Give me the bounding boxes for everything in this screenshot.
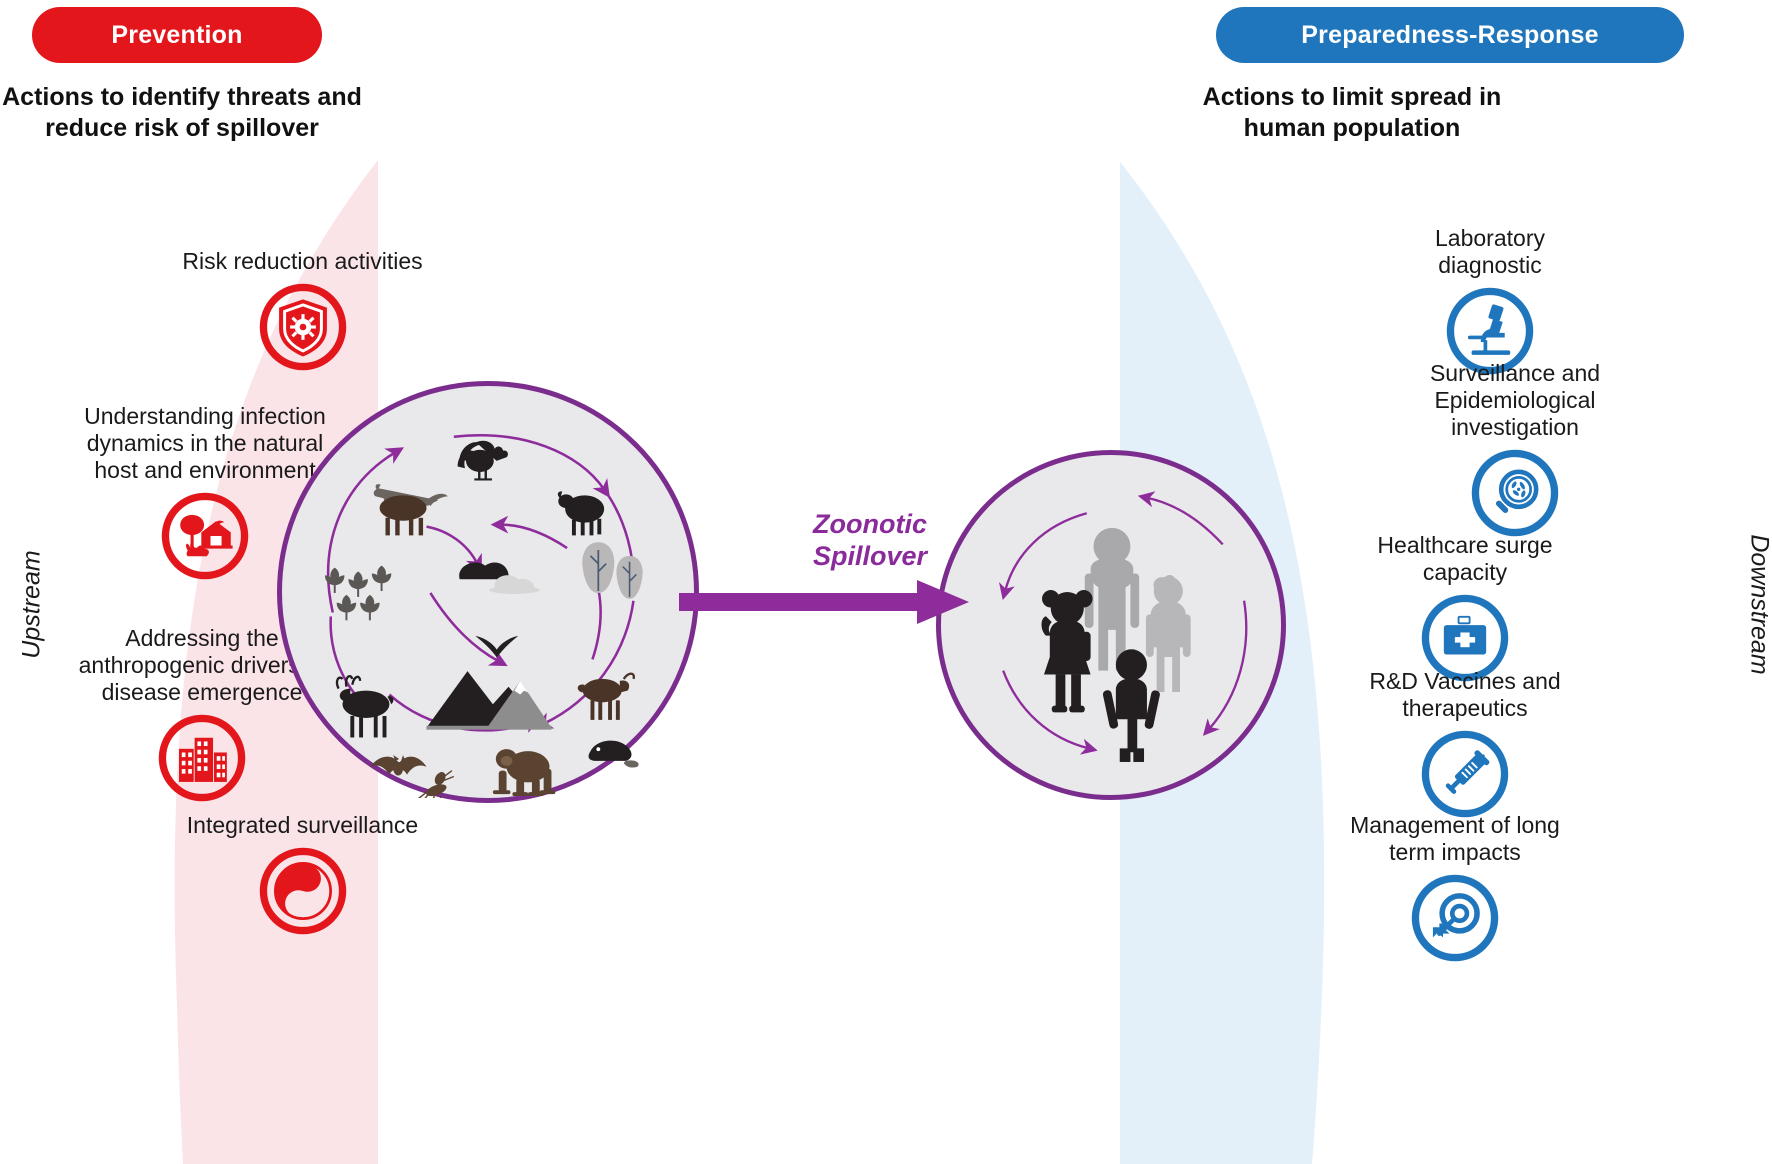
animal-environment-cycle-circle xyxy=(277,381,699,803)
prevention-badge: Prevention xyxy=(32,7,322,63)
preparedness-item-0-label: Laboratory diagnostic xyxy=(1385,225,1595,279)
prevention-badge-label: Prevention xyxy=(111,21,242,50)
preparedness-badge-label: Preparedness-Response xyxy=(1301,21,1598,50)
zoonotic-spillover-label: Zoonotic Spillover xyxy=(755,508,985,573)
mosquito-icon xyxy=(417,770,454,798)
spillover-arrow-icon xyxy=(679,580,969,624)
prevention-item-0-label: Risk reduction activities xyxy=(180,248,425,275)
adult-man-icon xyxy=(1085,528,1139,671)
shield-virus-icon xyxy=(180,281,425,373)
woman-icon xyxy=(1146,575,1191,692)
prevention-item-3-label: Integrated surveillance xyxy=(185,812,420,839)
trees-icon xyxy=(582,542,642,599)
mountains-icon xyxy=(426,671,551,730)
yin-yang-icon xyxy=(185,845,420,937)
prevention-item-risk-reduction: Risk reduction activities xyxy=(180,248,425,373)
clouds-icon xyxy=(459,563,540,594)
preparedness-item-2-label: Healthcare surge capacity xyxy=(1340,532,1590,586)
goat-icon xyxy=(578,674,634,720)
preparedness-item-surveillance-epi: Surveillance and Epidemiological investi… xyxy=(1385,360,1645,539)
preparedness-item-healthcare-surge: Healthcare surge capacity xyxy=(1340,532,1590,684)
prevention-item-integrated-surveillance: Integrated surveillance xyxy=(185,812,420,937)
prevention-subtitle: Actions to identify threats and reduce r… xyxy=(0,82,364,143)
preparedness-item-rd-vaccines: R&D Vaccines and therapeutics xyxy=(1340,668,1590,820)
child-icon xyxy=(1102,649,1160,762)
preparedness-subtitle: Actions to limit spread in human populat… xyxy=(1192,82,1512,143)
human-population-cycle-circle xyxy=(936,450,1286,800)
deer-icon xyxy=(337,676,393,737)
sheep-icon xyxy=(558,491,604,535)
preparedness-item-3-label: R&D Vaccines and therapeutics xyxy=(1340,668,1590,722)
gorilla-icon xyxy=(495,749,554,796)
upstream-label: Upstream xyxy=(18,535,47,675)
bird-icon xyxy=(475,636,518,657)
preparedness-badge: Preparedness-Response xyxy=(1216,7,1684,63)
preparedness-item-laboratory-diagnostic: Laboratory diagnostic xyxy=(1385,225,1595,377)
preparedness-item-long-term-impacts: Management of long term impacts xyxy=(1330,812,1580,964)
preparedness-item-4-label: Management of long term impacts xyxy=(1330,812,1580,866)
magnifier-bacteria-icon xyxy=(1385,447,1645,539)
pangolin-icon xyxy=(589,741,639,768)
target-arrow-icon xyxy=(1330,872,1580,964)
shrubs-icon xyxy=(325,566,391,621)
syringe-icon xyxy=(1340,728,1590,820)
preparedness-item-1-label: Surveillance and Epidemiological investi… xyxy=(1385,360,1645,441)
dog-icon xyxy=(374,484,448,535)
turkey-icon xyxy=(458,441,508,480)
downstream-label: Downstream xyxy=(1745,520,1772,690)
bat-icon xyxy=(370,755,427,776)
